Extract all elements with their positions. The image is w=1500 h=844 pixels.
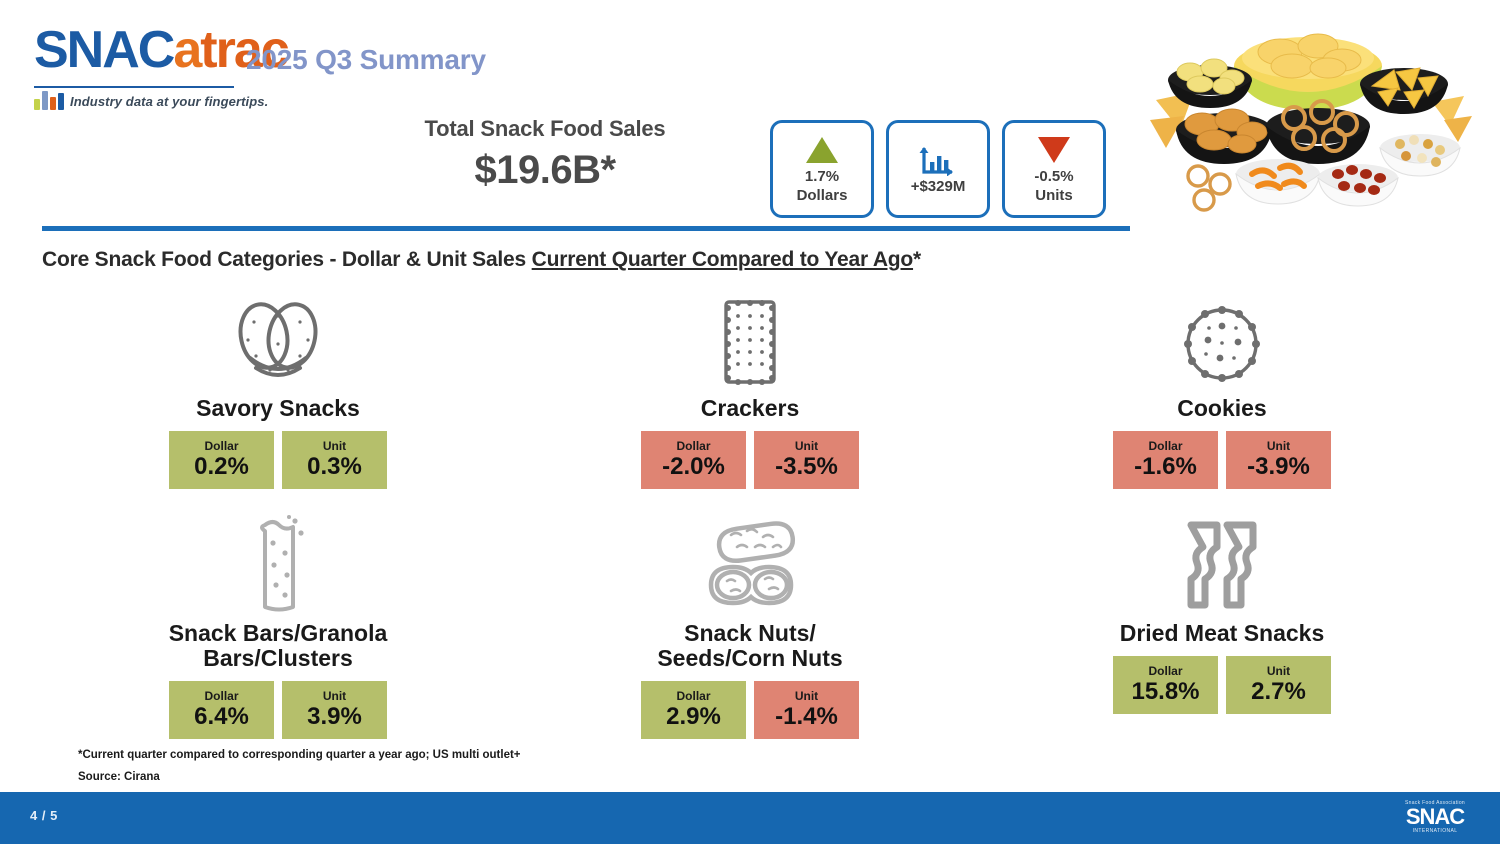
category-cookies[interactable]: Cookies Dollar -1.6% Unit -3.9% bbox=[986, 290, 1458, 489]
bar-chart-icon bbox=[34, 90, 64, 110]
category-row-1: Savory Snacks Dollar 0.2% Unit 0.3% bbox=[42, 290, 1458, 489]
slide-footer: 4 / 5 Snack Food Association SNAC INTERN… bbox=[0, 792, 1500, 844]
kpi-units-label: Units bbox=[1035, 187, 1073, 204]
dollar-tile-label: Dollar bbox=[204, 440, 238, 453]
cookie-icon bbox=[1176, 290, 1268, 388]
unit-tile-value: 3.9% bbox=[307, 704, 362, 730]
category-crackers[interactable]: Crackers Dollar -2.0% Unit -3.5% bbox=[514, 290, 986, 489]
category-name: Dried Meat Snacks bbox=[1120, 621, 1325, 646]
unit-tile-label: Unit bbox=[795, 440, 818, 453]
dollar-tile[interactable]: Dollar -2.0% bbox=[641, 431, 746, 489]
bar-chart-arrow-icon bbox=[918, 144, 958, 176]
unit-tile-value: -1.4% bbox=[775, 704, 838, 730]
category-dried-meat[interactable]: Dried Meat Snacks Dollar 15.8% Unit 2.7% bbox=[986, 515, 1458, 739]
footnotes: *Current quarter compared to correspondi… bbox=[78, 744, 521, 788]
logo-a-text: a bbox=[173, 21, 200, 79]
section-heading-underlined: Current Quarter Compared to Year Ago bbox=[532, 248, 913, 271]
unit-tile[interactable]: Unit -3.5% bbox=[754, 431, 859, 489]
slide-header: SNACatrac Industry data at your fingerti… bbox=[0, 0, 1500, 232]
page-indicator: 4 / 5 bbox=[30, 808, 58, 823]
unit-tile-label: Unit bbox=[795, 690, 818, 703]
metric-tiles: Dollar -2.0% Unit -3.5% bbox=[641, 431, 859, 489]
granola-bar-icon bbox=[243, 515, 313, 613]
kpi-dollars[interactable]: 1.7% Dollars bbox=[770, 120, 874, 218]
kpi-units[interactable]: -0.5% Units bbox=[1002, 120, 1106, 218]
pretzel-icon bbox=[226, 290, 330, 388]
triangle-up-icon bbox=[806, 134, 838, 166]
jerky-icon bbox=[1179, 515, 1265, 613]
kpi-dollars-label: Dollars bbox=[797, 187, 848, 204]
tagline-text: Industry data at your fingertips. bbox=[70, 94, 268, 110]
unit-tile[interactable]: Unit 3.9% bbox=[282, 681, 387, 739]
footer-logo-wordmark: SNAC bbox=[1392, 806, 1478, 828]
category-savory-snacks[interactable]: Savory Snacks Dollar 0.2% Unit 0.3% bbox=[42, 290, 514, 489]
dollar-tile-label: Dollar bbox=[676, 690, 710, 703]
unit-tile[interactable]: Unit -1.4% bbox=[754, 681, 859, 739]
category-name-line2: Seeds/Corn Nuts bbox=[657, 645, 842, 671]
dollar-tile-value: 6.4% bbox=[194, 704, 249, 730]
unit-tile-label: Unit bbox=[1267, 440, 1290, 453]
dollar-tile-label: Dollar bbox=[1148, 665, 1182, 678]
section-heading-plain: Core Snack Food Categories - Dollar & Un… bbox=[42, 248, 532, 271]
metric-tiles: Dollar 6.4% Unit 3.9% bbox=[169, 681, 387, 739]
category-snack-nuts[interactable]: Snack Nuts/Seeds/Corn Nuts Dollar 2.9% U… bbox=[514, 515, 986, 739]
category-grid: Savory Snacks Dollar 0.2% Unit 0.3% bbox=[42, 290, 1458, 739]
kpi-dollars-pct: 1.7% bbox=[805, 168, 839, 185]
dollar-tile-label: Dollar bbox=[1148, 440, 1182, 453]
footnote-method: *Current quarter compared to correspondi… bbox=[78, 744, 521, 766]
category-snack-bars[interactable]: Snack Bars/GranolaBars/Clusters Dollar 6… bbox=[42, 515, 514, 739]
unit-tile-value: -3.9% bbox=[1247, 454, 1310, 480]
unit-tile-value: 2.7% bbox=[1251, 679, 1306, 705]
category-name: Snack Bars/GranolaBars/Clusters bbox=[169, 621, 388, 671]
dollar-tile-value: 15.8% bbox=[1131, 679, 1199, 705]
dollar-tile[interactable]: Dollar -1.6% bbox=[1113, 431, 1218, 489]
unit-tile[interactable]: Unit 0.3% bbox=[282, 431, 387, 489]
dollar-tile[interactable]: Dollar 2.9% bbox=[641, 681, 746, 739]
metric-tiles: Dollar -1.6% Unit -3.9% bbox=[1113, 431, 1331, 489]
unit-tile[interactable]: Unit -3.9% bbox=[1226, 431, 1331, 489]
dollar-tile-label: Dollar bbox=[204, 690, 238, 703]
logo-divider bbox=[34, 86, 234, 88]
unit-tile-value: -3.5% bbox=[775, 454, 838, 480]
metric-tiles: Dollar 0.2% Unit 0.3% bbox=[169, 431, 387, 489]
unit-tile-label: Unit bbox=[323, 690, 346, 703]
category-row-2: Snack Bars/GranolaBars/Clusters Dollar 6… bbox=[42, 515, 1458, 739]
category-name-line1: Snack Bars/Granola bbox=[169, 620, 388, 646]
unit-tile[interactable]: Unit 2.7% bbox=[1226, 656, 1331, 714]
dollar-tile[interactable]: Dollar 0.2% bbox=[169, 431, 274, 489]
metric-tiles: Dollar 15.8% Unit 2.7% bbox=[1113, 656, 1331, 714]
total-sales-label: Total Snack Food Sales bbox=[360, 116, 730, 142]
unit-tile-label: Unit bbox=[1267, 665, 1290, 678]
dollar-tile-value: 2.9% bbox=[666, 704, 721, 730]
unit-tile-label: Unit bbox=[323, 440, 346, 453]
dollar-tile[interactable]: Dollar 6.4% bbox=[169, 681, 274, 739]
total-sales-block: Total Snack Food Sales $19.6B* bbox=[360, 116, 730, 193]
peanut-icon bbox=[695, 515, 805, 613]
snack-bowls-photo bbox=[1132, 8, 1492, 236]
section-heading: Core Snack Food Categories - Dollar & Un… bbox=[42, 248, 921, 272]
snac-international-logo: Snack Food Association SNAC INTERNATIONA… bbox=[1392, 800, 1478, 834]
metric-tiles: Dollar 2.9% Unit -1.4% bbox=[641, 681, 859, 739]
kpi-dollar-change[interactable]: +$329M bbox=[886, 120, 990, 218]
tagline-row: Industry data at your fingertips. bbox=[34, 90, 268, 110]
category-name-line1: Snack Nuts/ bbox=[684, 620, 816, 646]
dollar-tile-label: Dollar bbox=[676, 440, 710, 453]
section-heading-asterisk: * bbox=[913, 248, 921, 271]
category-name: Savory Snacks bbox=[196, 396, 360, 421]
deck-title: 2025 Q3 Summary bbox=[246, 44, 486, 76]
kpi-badges: 1.7% Dollars +$329M -0.5% Units bbox=[770, 120, 1106, 218]
unit-tile-value: 0.3% bbox=[307, 454, 362, 480]
kpi-units-pct: -0.5% bbox=[1034, 168, 1073, 185]
header-divider bbox=[42, 226, 1130, 231]
category-name-line2: Bars/Clusters bbox=[203, 645, 353, 671]
footer-logo-top-text: Snack Food Association bbox=[1392, 800, 1478, 806]
category-name: Cookies bbox=[1177, 396, 1266, 421]
footer-logo-sub-text: INTERNATIONAL bbox=[1392, 828, 1478, 834]
dollar-tile-value: 0.2% bbox=[194, 454, 249, 480]
category-name: Snack Nuts/Seeds/Corn Nuts bbox=[657, 621, 842, 671]
cracker-icon bbox=[714, 290, 786, 388]
dollar-tile-value: -2.0% bbox=[662, 454, 725, 480]
triangle-down-icon bbox=[1038, 134, 1070, 166]
category-name: Crackers bbox=[701, 396, 799, 421]
footnote-source: Source: Cirana bbox=[78, 766, 521, 788]
total-sales-value: $19.6B* bbox=[360, 148, 730, 193]
dollar-tile[interactable]: Dollar 15.8% bbox=[1113, 656, 1218, 714]
dollar-tile-value: -1.6% bbox=[1134, 454, 1197, 480]
kpi-dollar-change-value: +$329M bbox=[911, 178, 966, 195]
logo-snac-text: SNAC bbox=[34, 21, 173, 79]
